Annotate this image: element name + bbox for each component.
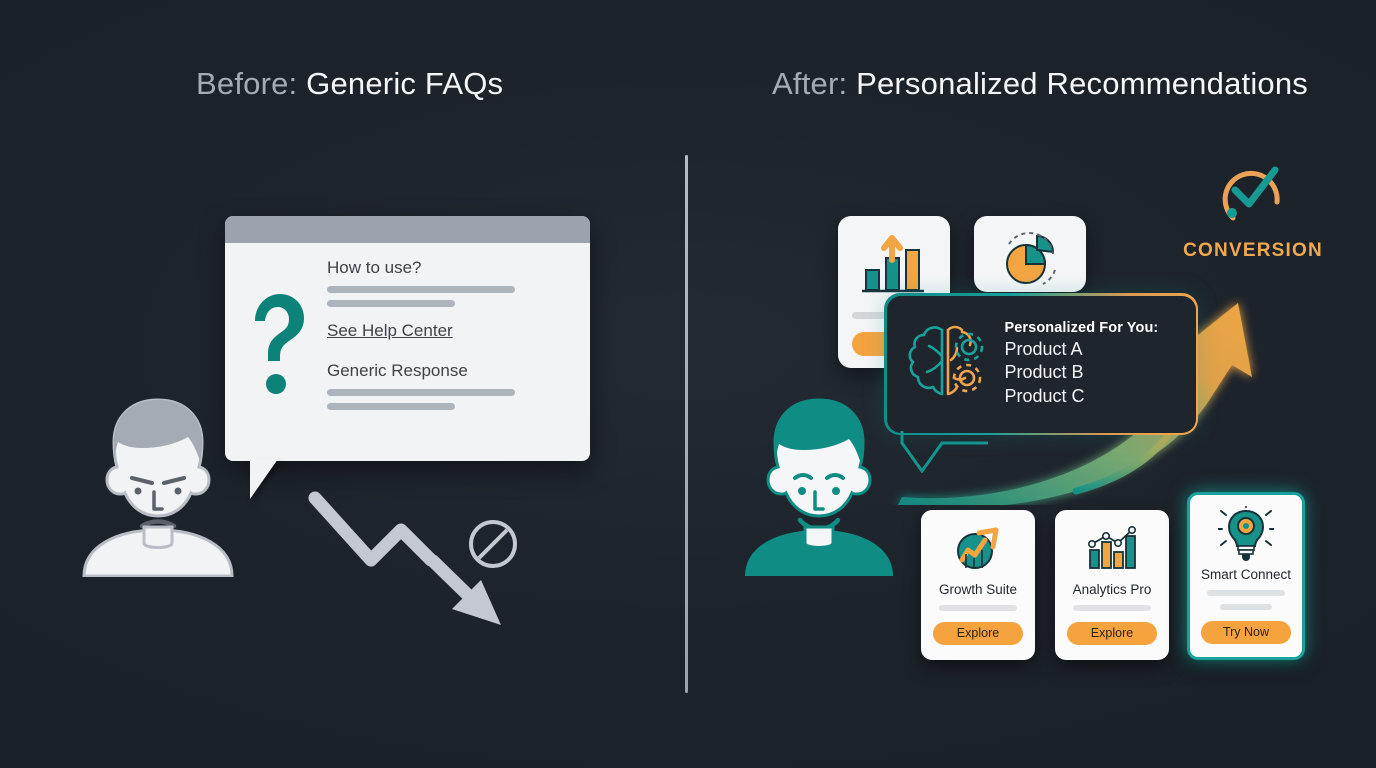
faq-placeholder-line	[327, 403, 455, 410]
card-placeholder-line	[939, 605, 1017, 611]
bubble-product-c: Product C	[1005, 385, 1184, 408]
faq-panel-titlebar	[225, 216, 590, 243]
title-after-emphasis: Personalized Recommendations	[856, 66, 1308, 101]
explore-button[interactable]: Explore	[1067, 622, 1157, 645]
bubble-text-block: Personalized For You: Product A Product …	[1005, 320, 1184, 407]
faq-question: How to use?	[327, 258, 577, 278]
lightbulb-gear-icon	[1190, 505, 1302, 561]
bubble-product-b: Product B	[1005, 361, 1184, 384]
page-title-after: After: Personalized Recommendations	[772, 66, 1308, 102]
bubble-product-a: Product A	[1005, 338, 1184, 361]
check-circle-icon	[1207, 152, 1299, 232]
bubble-tail	[900, 431, 990, 473]
faq-panel: How to use? See Help Center Generic Resp…	[225, 216, 590, 461]
product-card-growth-suite[interactable]: Growth Suite Explore	[921, 510, 1035, 660]
happy-user-avatar	[740, 392, 898, 577]
explore-button[interactable]: Explore	[933, 622, 1023, 645]
bubble-heading: Personalized For You:	[1005, 320, 1184, 336]
question-mark-icon	[247, 288, 309, 398]
see-help-center-link[interactable]: See Help Center	[327, 321, 577, 341]
product-card-analytics-pro[interactable]: Analytics Pro Explore	[1055, 510, 1169, 660]
bubble-inner: Personalized For You: Product A Product …	[887, 296, 1196, 433]
title-after-prefix: After:	[772, 66, 856, 101]
page-title-before: Before: Generic FAQs	[196, 66, 503, 102]
growth-globe-arrow-icon	[921, 520, 1035, 576]
faq-placeholder-line	[327, 389, 515, 396]
conversion-label: CONVERSION	[1182, 240, 1324, 262]
product-name: Smart Connect	[1190, 567, 1302, 582]
personalized-recommendation-bubble: Personalized For You: Product A Product …	[884, 293, 1198, 435]
title-before-prefix: Before:	[196, 66, 306, 101]
product-name: Analytics Pro	[1055, 582, 1169, 597]
analytics-bars-line-icon	[1055, 520, 1169, 576]
prohibited-icon	[467, 518, 519, 570]
faq-panel-tail	[250, 459, 278, 499]
card-placeholder-line	[1073, 605, 1151, 611]
title-before-emphasis: Generic FAQs	[306, 66, 503, 101]
faq-placeholder-line	[327, 286, 515, 293]
brain-gears-icon	[899, 316, 995, 412]
product-name: Growth Suite	[921, 582, 1035, 597]
faq-content: How to use? See Help Center Generic Resp…	[327, 258, 577, 417]
card-placeholder-line	[1207, 590, 1285, 596]
product-card-smart-connect[interactable]: Smart Connect Try Now	[1187, 492, 1305, 660]
vertical-divider	[685, 155, 688, 693]
card-placeholder-line	[1220, 604, 1272, 610]
infographic-canvas: Before: Generic FAQs After: Personalized…	[0, 0, 1376, 768]
conversion-badge: CONVERSION	[1182, 152, 1324, 262]
try-now-button[interactable]: Try Now	[1201, 621, 1291, 644]
sad-user-avatar	[78, 392, 238, 577]
faq-placeholder-line	[327, 300, 455, 307]
faq-response-label: Generic Response	[327, 361, 577, 381]
